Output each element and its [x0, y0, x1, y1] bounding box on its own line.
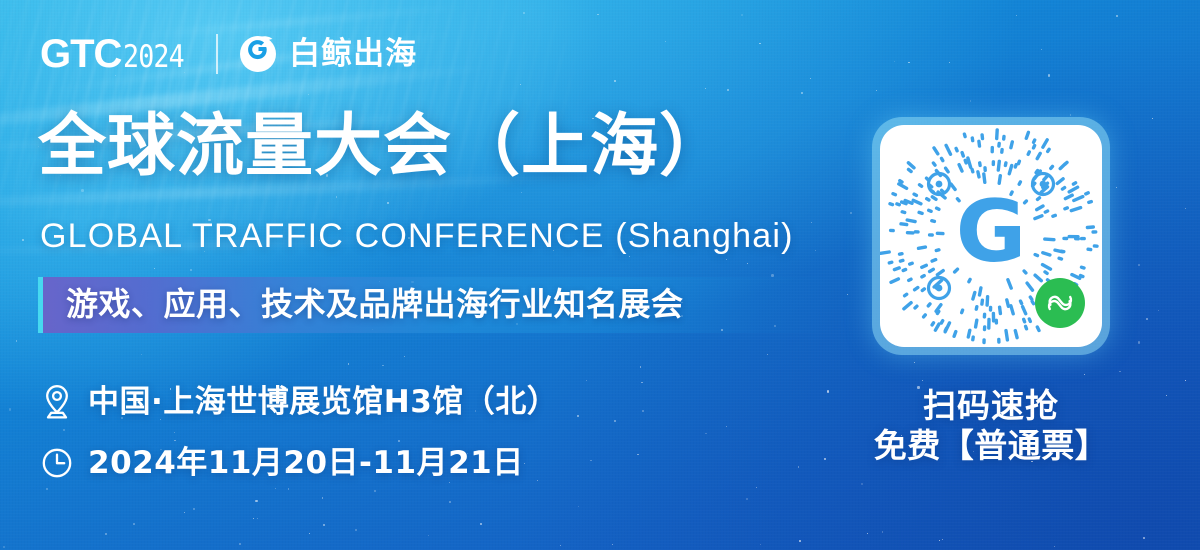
partner-logo-text: 白鲸出海: [289, 39, 417, 70]
date-text: 2024年11月20日-11月21日: [88, 448, 524, 479]
logo-row: GTC 2024 白鲸出海: [40, 28, 417, 80]
venue-info: 中国·上海世博展览馆H3馆（北）: [40, 382, 558, 422]
page-subtitle-en: GLOBAL TRAFFIC CONFERENCE (Shanghai): [40, 219, 794, 253]
qr-cta-line2: 免费【普通票】: [860, 426, 1122, 466]
whale-g-logo-icon: [238, 34, 278, 74]
page-title: 全球流量大会（上海）: [38, 113, 728, 181]
conference-banner: GTC 2024 白鲸出海 全球流量大会（上海） GLOBAL TRAFFIC …: [0, 0, 1200, 550]
partner-logo[interactable]: 白鲸出海: [238, 34, 417, 74]
tagline-text: 游戏、应用、技术及品牌出海行业知名展会: [66, 288, 684, 320]
svg-text:G: G: [956, 182, 1027, 282]
wechat-miniprogram-icon: [1035, 278, 1085, 328]
qr-cta-line1: 扫码速抢: [860, 386, 1122, 426]
qr-cta: 扫码速抢 免费【普通票】: [860, 386, 1122, 467]
qr-code-surface: G: [880, 125, 1102, 347]
qr-code-card[interactable]: G: [872, 117, 1110, 355]
clock-icon: [40, 443, 74, 483]
venue-text: 中国·上海世博展览馆H3馆（北）: [88, 387, 558, 418]
gtc-logo-year: 2024: [123, 42, 184, 73]
vertical-divider-icon: [216, 34, 218, 74]
gtc-logo[interactable]: GTC 2024: [40, 34, 194, 74]
location-pin-icon: [40, 382, 74, 422]
ribbon-accent-bar: [38, 277, 43, 333]
date-info: 2024年11月20日-11月21日: [40, 443, 524, 483]
gtc-logo-text: GTC: [40, 34, 121, 74]
